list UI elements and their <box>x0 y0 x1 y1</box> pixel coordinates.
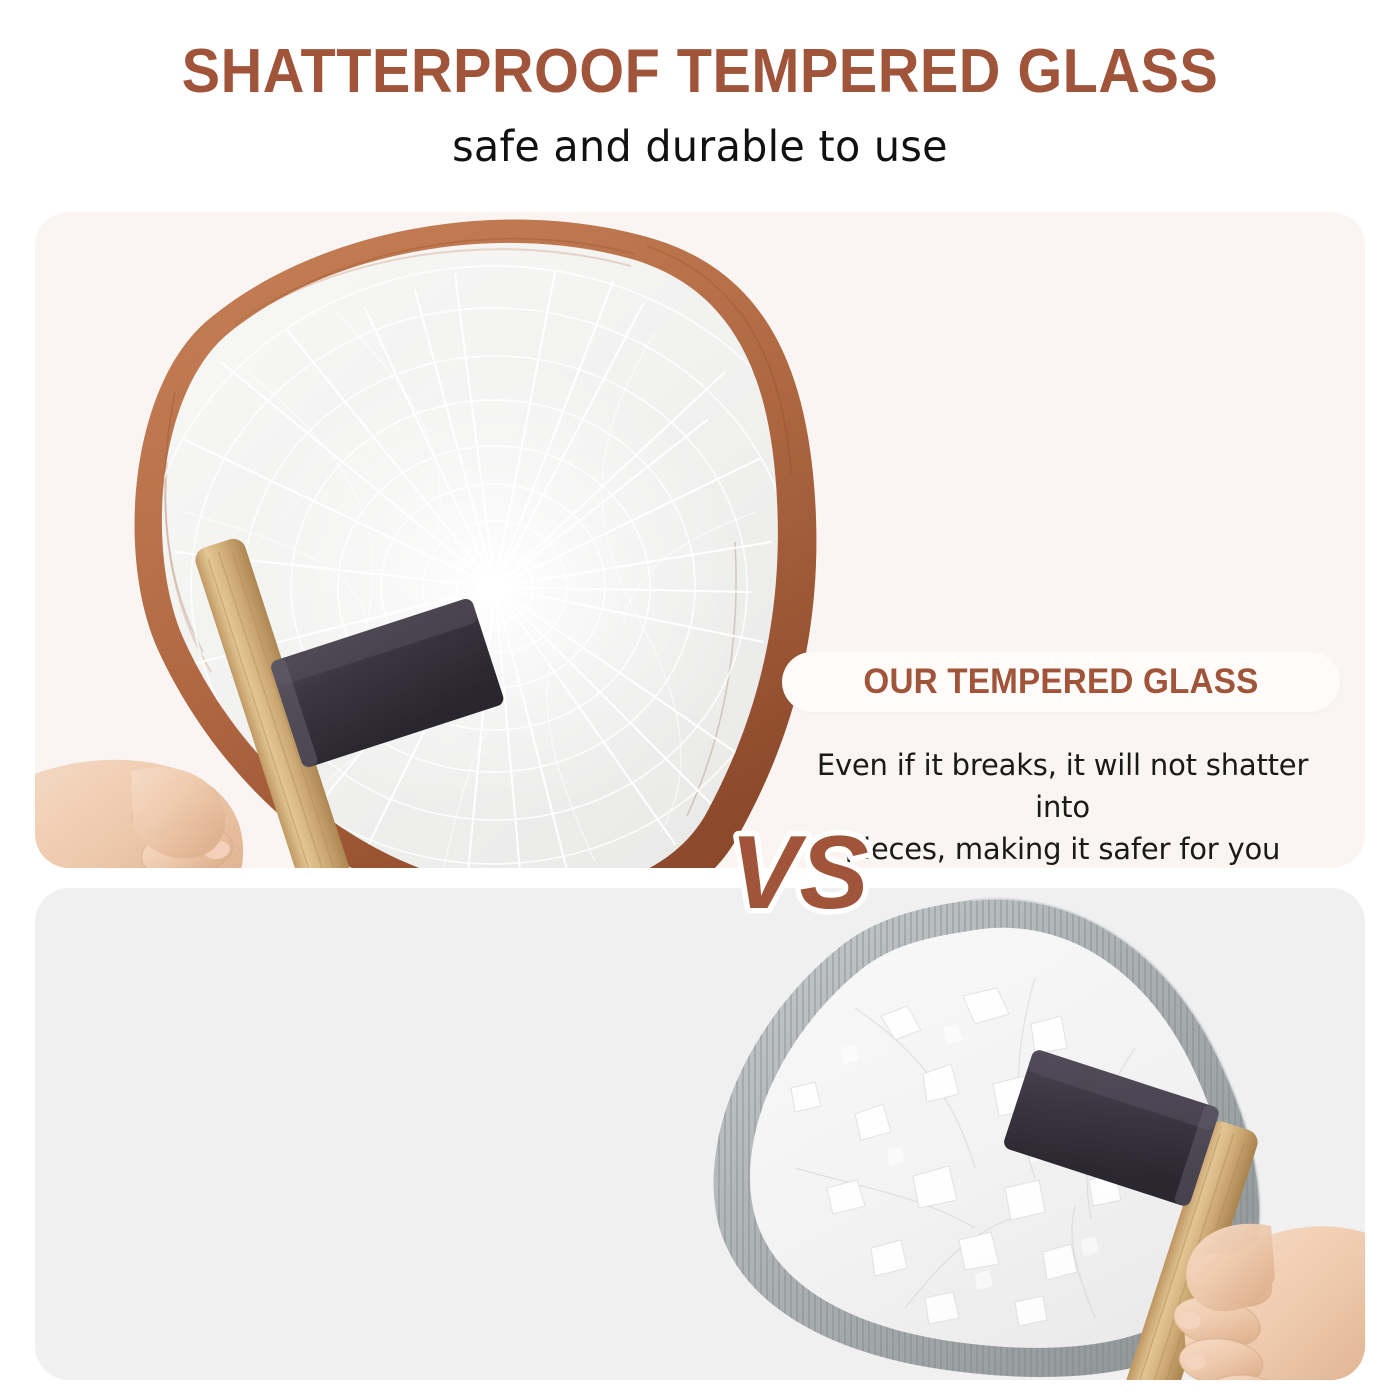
ordinary-glass-illustration <box>675 888 1365 1380</box>
tempered-glass-badge-label: OUR TEMPERED GLASS <box>863 662 1258 702</box>
versus-label: VS <box>730 815 869 931</box>
hand-gripping-handle <box>35 760 243 868</box>
versus-badge: VS <box>716 812 876 932</box>
page-title: SHATTERPROOF TEMPERED GLASS <box>49 36 1351 108</box>
tempered-glass-panel: OUR TEMPERED GLASS Even if it breaks, it… <box>35 212 1365 868</box>
page-subtitle: safe and durable to use <box>28 120 1372 174</box>
tempered-glass-badge: OUR TEMPERED GLASS <box>782 652 1340 712</box>
ordinary-glass-panel: OTHER ORDINARY GLASS Other's glass mirro… <box>35 888 1365 1380</box>
tempered-glass-illustration <box>35 212 825 868</box>
page-header: SHATTERPROOF TEMPERED GLASS safe and dur… <box>0 0 1400 200</box>
hand-gripping-handle <box>1169 1224 1365 1380</box>
